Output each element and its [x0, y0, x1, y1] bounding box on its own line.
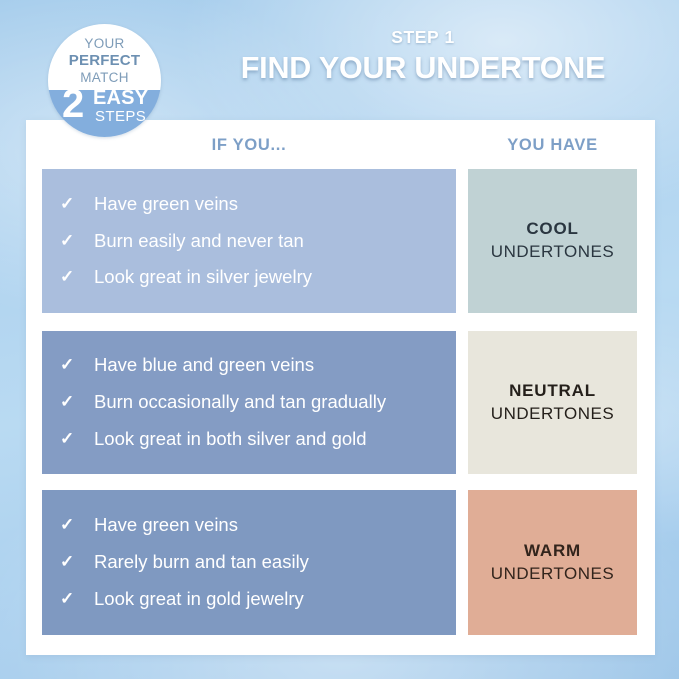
badge-steps-label: STEPS — [95, 109, 146, 124]
column-header-if-you: IF YOU... — [42, 136, 456, 155]
undertone-swatch-neutral: NEUTRAL UNDERTONES — [468, 331, 637, 474]
list-item-label: Have green veins — [94, 514, 442, 537]
list-item: ✓ Have blue and green veins — [60, 354, 442, 377]
column-header-you-have: YOU HAVE — [468, 136, 637, 155]
list-item-label: Look great in silver jewelry — [94, 266, 442, 289]
criteria-panel-cool: ✓ Have green veins ✓ Burn easily and nev… — [42, 169, 456, 313]
list-item: ✓ Burn easily and never tan — [60, 230, 442, 253]
badge-easy-label: EASY — [93, 88, 148, 108]
step-label: STEP 1 — [188, 28, 658, 47]
list-item: ✓ Burn occasionally and tan gradually — [60, 391, 442, 414]
list-item-label: Have green veins — [94, 193, 442, 216]
list-item: ✓ Rarely burn and tan easily — [60, 551, 442, 574]
check-icon: ✓ — [60, 428, 94, 450]
check-icon: ✓ — [60, 230, 94, 252]
list-item-label: Burn occasionally and tan gradually — [94, 391, 442, 414]
undertone-name: NEUTRAL — [509, 380, 596, 403]
badge-content: YOUR PERFECT MATCH 2 EASY STEPS — [48, 24, 161, 137]
check-icon: ✓ — [60, 514, 94, 536]
undertone-sublabel: UNDERTONES — [491, 241, 614, 264]
undertone-swatch-cool: COOL UNDERTONES — [468, 169, 637, 313]
list-item: ✓ Have green veins — [60, 514, 442, 537]
badge-line-perfect: PERFECT — [48, 52, 161, 69]
badge-step-number: 2 — [62, 84, 84, 124]
check-icon: ✓ — [60, 266, 94, 288]
check-icon: ✓ — [60, 391, 94, 413]
list-item: ✓ Look great in both silver and gold — [60, 428, 442, 451]
undertone-name: WARM — [524, 540, 581, 563]
undertone-name: COOL — [526, 218, 578, 241]
list-item-label: Burn easily and never tan — [94, 230, 442, 253]
list-item-label: Rarely burn and tan easily — [94, 551, 442, 574]
list-item: ✓ Look great in silver jewelry — [60, 266, 442, 289]
page-title: FIND YOUR UNDERTONE — [188, 51, 658, 85]
page-header: STEP 1 FIND YOUR UNDERTONE — [188, 28, 658, 85]
perfect-match-badge: YOUR PERFECT MATCH 2 EASY STEPS — [48, 24, 161, 137]
badge-line-your: YOUR — [48, 36, 161, 51]
criteria-panel-neutral: ✓ Have blue and green veins ✓ Burn occas… — [42, 331, 456, 474]
list-item: ✓ Have green veins — [60, 193, 442, 216]
criteria-panel-warm: ✓ Have green veins ✓ Rarely burn and tan… — [42, 490, 456, 635]
list-item-label: Have blue and green veins — [94, 354, 442, 377]
check-icon: ✓ — [60, 193, 94, 215]
undertone-sublabel: UNDERTONES — [491, 403, 614, 426]
undertone-swatch-warm: WARM UNDERTONES — [468, 490, 637, 635]
check-icon: ✓ — [60, 588, 94, 610]
list-item-label: Look great in both silver and gold — [94, 428, 442, 451]
list-item-label: Look great in gold jewelry — [94, 588, 442, 611]
list-item: ✓ Look great in gold jewelry — [60, 588, 442, 611]
check-icon: ✓ — [60, 551, 94, 573]
check-icon: ✓ — [60, 354, 94, 376]
undertone-sublabel: UNDERTONES — [491, 563, 614, 586]
